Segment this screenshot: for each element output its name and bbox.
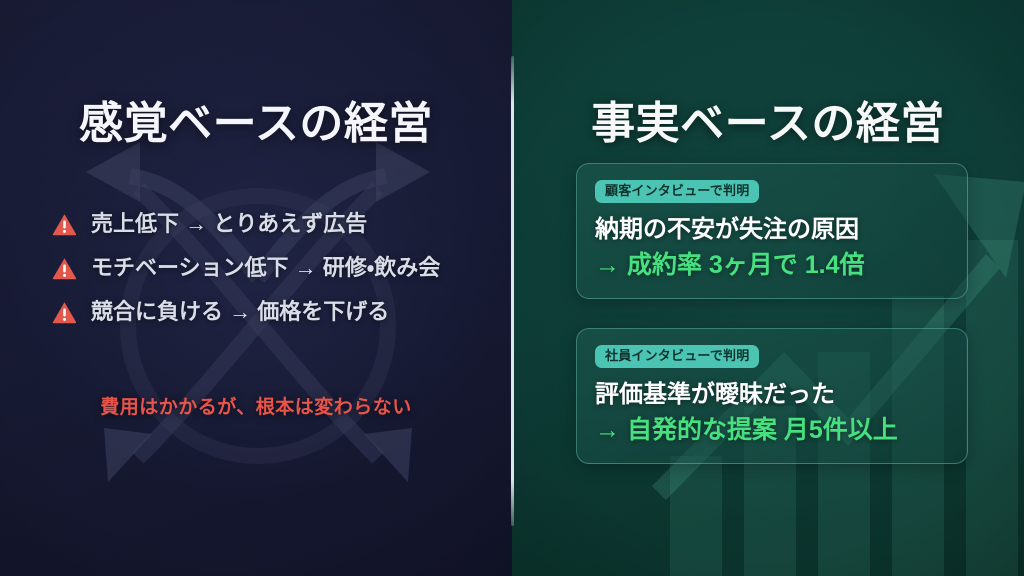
panel-feeling-based: 感覚ベースの経営 売上低下 → とりあえず広告 モチベーション低下 → 研修・飲…	[0, 0, 512, 576]
warning-triangle-icon	[52, 257, 77, 280]
panel-divider	[511, 56, 514, 526]
insight-card[interactable]: 顧客インタビューで判明 納期の不安が失注の原因 → 成約率 3ヶ月で 1.4倍	[576, 163, 968, 299]
insight-card-title: 評価基準が曖昧だった	[595, 381, 949, 409]
list-item-label: 競合に負ける → 価格を下げる	[91, 300, 389, 324]
insight-card-title: 納期の不安が失注の原因	[595, 216, 949, 244]
slide-root: 感覚ベースの経営 売上低下 → とりあえず広告 モチベーション低下 → 研修・飲…	[0, 0, 1024, 576]
panel-fact-based: 事実ベースの経営 顧客インタビューで判明 納期の不安が失注の原因 → 成約率 3…	[512, 0, 1024, 576]
list-item: モチベーション低下 → 研修・飲み会	[52, 256, 440, 280]
left-footnote: 費用はかかるが、根本は変わらない	[0, 392, 512, 419]
warning-triangle-icon	[52, 301, 77, 324]
insight-card-result: → 自発的な提案 月5件以上	[595, 416, 949, 445]
insight-card[interactable]: 社員インタビューで判明 評価基準が曖昧だった → 自発的な提案 月5件以上	[576, 328, 968, 464]
insight-card-result: → 成約率 3ヶ月で 1.4倍	[595, 251, 949, 280]
status-badge: 社員インタビューで判明	[595, 345, 759, 368]
page-title-left: 感覚ベースの経営	[0, 87, 512, 151]
insight-card-list: 顧客インタビューで判明 納期の不安が失注の原因 → 成約率 3ヶ月で 1.4倍 …	[576, 163, 968, 464]
list-item-label: 売上低下 → とりあえず広告	[91, 212, 367, 236]
page-title-right: 事実ベースの経営	[512, 87, 1024, 151]
warning-triangle-icon	[52, 213, 77, 236]
list-item: 売上低下 → とりあえず広告	[52, 212, 440, 236]
list-item: 競合に負ける → 価格を下げる	[52, 300, 440, 324]
problem-list: 売上低下 → とりあえず広告 モチベーション低下 → 研修・飲み会 競合に負ける…	[52, 212, 440, 325]
list-item-label: モチベーション低下 → 研修・飲み会	[91, 256, 440, 280]
status-badge: 顧客インタビューで判明	[595, 180, 759, 203]
